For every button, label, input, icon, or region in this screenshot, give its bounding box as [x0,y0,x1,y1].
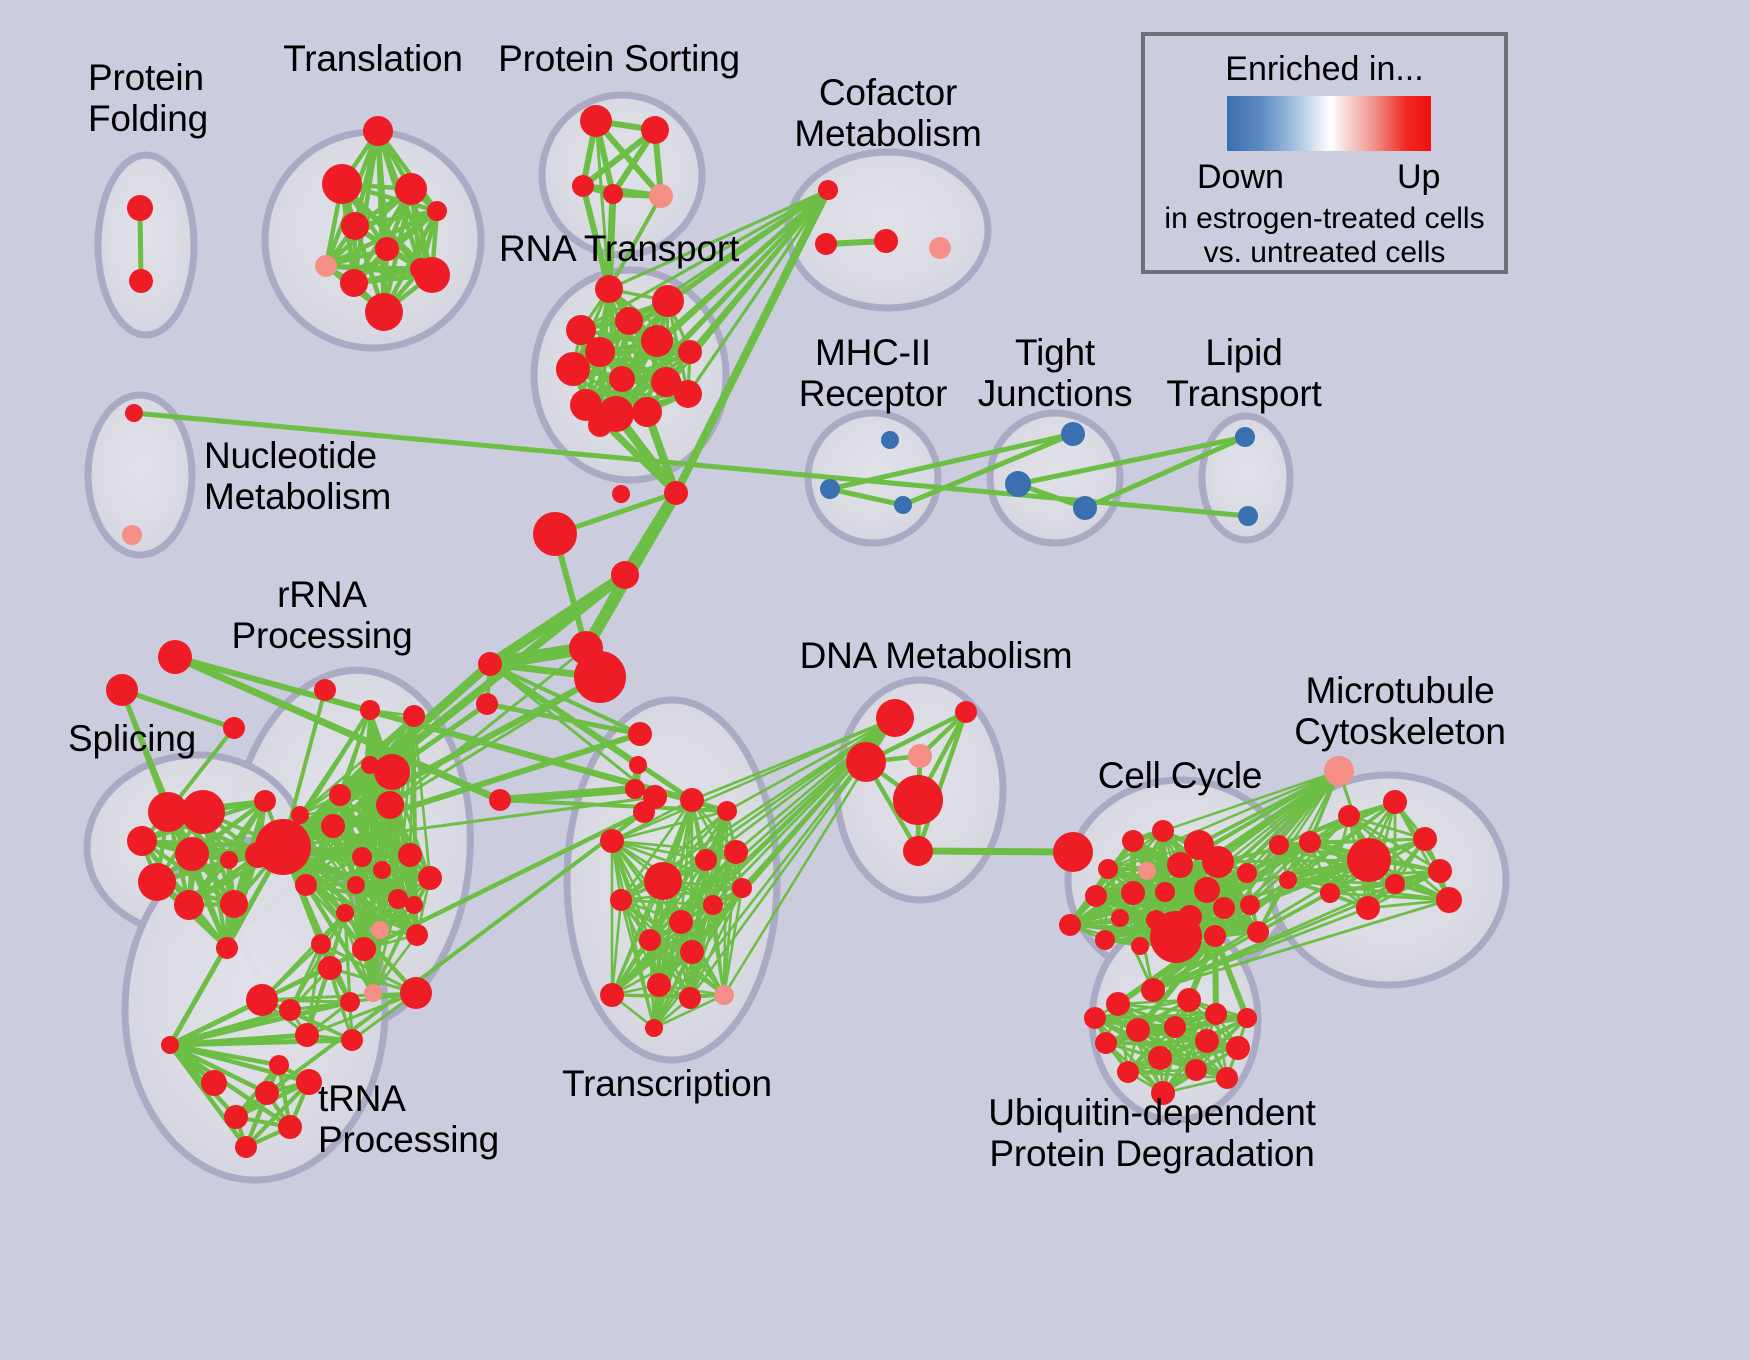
node-up[interactable] [340,992,360,1012]
cluster-label-protein-sorting: Protein Sorting [498,38,740,79]
node-up[interactable] [161,1036,179,1054]
node-up[interactable] [1122,830,1144,852]
node-up[interactable] [398,843,422,867]
node-up[interactable] [600,829,624,853]
cluster-label-microtubule-cytoskeleton: Microtubule Cytoskeleton [1294,670,1506,753]
node-up[interactable] [403,705,425,727]
cluster-label-lipid-transport: Lipid Transport [1166,332,1321,415]
node-up[interactable] [1205,1003,1227,1025]
node-up-weak[interactable] [364,984,382,1002]
node-up[interactable] [574,651,626,703]
node-up[interactable] [269,1055,289,1075]
node-up-weak[interactable] [649,184,673,208]
cluster-label-translation: Translation [283,38,462,79]
node-up[interactable] [664,481,688,505]
node-up[interactable] [1152,820,1174,842]
node-up[interactable] [1216,1067,1238,1089]
node-up[interactable] [1269,835,1289,855]
node-up[interactable] [395,173,427,205]
node-up[interactable] [1148,1046,1172,1070]
node-up[interactable] [1413,827,1437,851]
node-up[interactable] [609,366,635,392]
node-up-weak[interactable] [908,744,932,768]
node-up[interactable] [406,924,428,946]
node-up[interactable] [352,847,372,867]
node-up[interactable] [321,814,345,838]
node-up[interactable] [138,863,176,901]
legend-down-label: Down [1197,158,1284,197]
node-up[interactable] [1126,1018,1150,1042]
node-up[interactable] [533,512,577,556]
node-up[interactable] [556,352,590,386]
node-up[interactable] [1085,885,1107,907]
node-up[interactable] [611,561,639,589]
node-up[interactable] [652,285,684,317]
legend-subtitle-line-1: in estrogen-treated cells [1145,202,1504,236]
node-up[interactable] [874,229,898,253]
node-up[interactable] [400,977,432,1009]
node-up[interactable] [1131,937,1149,955]
node-up[interactable] [1121,881,1145,905]
node-up[interactable] [1299,831,1321,853]
node-up[interactable] [680,788,704,812]
node-up[interactable] [363,116,393,146]
node-up[interactable] [1117,1061,1139,1083]
node-up[interactable] [336,904,354,922]
node-up[interactable] [633,801,655,823]
node-up[interactable] [1194,877,1220,903]
node-up[interactable] [678,340,702,364]
node-up[interactable] [955,701,977,723]
node-up[interactable] [235,1136,257,1158]
cluster-label-trna-processing: tRNA Processing [318,1078,499,1161]
node-up[interactable] [1247,921,1269,943]
node-up[interactable] [1098,859,1118,879]
node-up[interactable] [311,934,331,954]
node-up[interactable] [427,201,447,221]
node-up[interactable] [181,790,225,834]
node-up[interactable] [645,1019,663,1037]
node-up[interactable] [314,679,336,701]
network-edge [918,851,1073,852]
node-up[interactable] [641,325,673,357]
node-up[interactable] [220,890,248,918]
cluster-label-cell-cycle: Cell Cycle [1098,755,1263,796]
node-up[interactable] [1155,882,1175,902]
node-up[interactable] [1141,978,1165,1002]
node-up[interactable] [365,293,403,331]
node-up-weak[interactable] [371,921,389,939]
cluster-label-tight-junctions: Tight Junctions [978,332,1133,415]
cluster-label-ubiquitin-protein-degradation: Ubiquitin-dependent Protein Degradation [988,1092,1315,1175]
node-up[interactable] [679,987,701,1009]
node-up[interactable] [603,184,623,204]
node-up[interactable] [647,973,671,997]
node-up[interactable] [224,1105,248,1129]
node-up[interactable] [127,826,157,856]
node-up[interactable] [641,116,669,144]
cluster-label-cofactor-metabolism: Cofactor Metabolism [794,72,981,155]
node-up[interactable] [418,866,442,890]
node-up[interactable] [129,269,153,293]
node-up[interactable] [1059,914,1081,936]
network-edge [1215,936,1216,1014]
node-up[interactable] [255,1081,279,1105]
node-up[interactable] [278,1115,302,1139]
node-up[interactable] [595,275,623,303]
node-up[interactable] [375,237,399,261]
node-up-weak[interactable] [714,985,734,1005]
node-up[interactable] [376,791,404,819]
node-up[interactable] [1226,1036,1250,1060]
node-up[interactable] [1204,925,1226,947]
cluster-label-mhc-ii-receptor: MHC-II Receptor [799,332,948,415]
node-up[interactable] [201,1070,227,1096]
node-up[interactable] [1385,874,1405,894]
node-up[interactable] [1095,1032,1117,1054]
node-up[interactable] [295,1023,319,1047]
cluster-label-dna-metabolism: DNA Metabolism [800,635,1073,676]
node-up[interactable] [1436,887,1462,913]
node-up[interactable] [703,895,723,915]
node-up[interactable] [680,940,704,964]
node-up[interactable] [347,876,365,894]
node-up[interactable] [1111,909,1129,927]
node-up[interactable] [615,307,643,335]
node-up[interactable] [724,840,748,864]
node-up[interactable] [580,105,612,137]
node-up[interactable] [669,910,693,934]
cluster-label-nucleotide-metabolism: Nucleotide Metabolism [204,435,391,518]
node-up[interactable] [106,674,138,706]
node-up[interactable] [1053,832,1093,872]
node-up[interactable] [414,257,450,293]
node-up[interactable] [476,693,498,715]
node-up[interactable] [1383,790,1407,814]
node-up[interactable] [329,784,351,806]
node-up[interactable] [246,984,278,1016]
node-down[interactable] [1073,496,1097,520]
node-up[interactable] [1237,1008,1257,1028]
node-up[interactable] [175,837,209,871]
node-up[interactable] [352,937,376,961]
node-up[interactable] [1167,852,1193,878]
node-up[interactable] [632,397,662,427]
node-down[interactable] [1061,422,1085,446]
node-up[interactable] [610,889,632,911]
node-up[interactable] [644,862,682,900]
node-up[interactable] [717,801,737,821]
node-up[interactable] [612,485,630,503]
legend-color-bar [1227,96,1431,151]
node-down[interactable] [1005,471,1031,497]
cluster-hull-protein-folding [98,155,194,335]
node-up[interactable] [405,896,423,914]
node-up-weak[interactable] [315,255,337,277]
node-up[interactable] [1347,838,1391,882]
node-up[interactable] [174,890,204,920]
node-up[interactable] [732,878,752,898]
node-up[interactable] [674,380,702,408]
node-up[interactable] [1428,859,1452,883]
node-up[interactable] [340,269,368,297]
node-up[interactable] [322,164,362,204]
node-up[interactable] [295,874,317,896]
cluster-label-protein-folding: Protein Folding [88,57,208,140]
node-up[interactable] [373,861,391,879]
node-up[interactable] [625,779,645,799]
node-up[interactable] [818,180,838,200]
node-up[interactable] [876,699,914,737]
node-up[interactable] [1185,1059,1207,1081]
node-up[interactable] [815,233,837,255]
node-up[interactable] [588,413,612,437]
node-up[interactable] [628,722,652,746]
node-up[interactable] [127,195,153,221]
node-up[interactable] [639,929,661,951]
node-up[interactable] [341,212,369,240]
node-up[interactable] [846,742,886,782]
node-down[interactable] [881,431,899,449]
enrichment-map-figure: Protein FoldingTranslationProtein Sortin… [0,0,1750,1360]
node-up[interactable] [1202,846,1234,878]
legend-panel: Enriched in... Down Up in estrogen-treat… [1141,32,1508,274]
node-up[interactable] [255,819,311,875]
node-up[interactable] [220,851,238,869]
cluster-label-rrna-processing: rRNA Processing [231,574,412,657]
node-down[interactable] [1235,427,1255,447]
cluster-label-splicing: Splicing [68,718,196,759]
node-up[interactable] [1237,863,1257,883]
node-up[interactable] [1084,1007,1106,1029]
node-up[interactable] [360,700,380,720]
node-up[interactable] [1338,805,1360,827]
node-up[interactable] [1213,897,1235,919]
cluster-label-rna-transport: RNA Transport [499,228,739,269]
node-up[interactable] [572,175,594,197]
node-up[interactable] [279,999,301,1021]
legend-title: Enriched in... [1145,50,1504,89]
node-up[interactable] [318,956,342,980]
node-up[interactable] [1195,1029,1219,1053]
node-down[interactable] [820,479,840,499]
node-up[interactable] [893,775,943,825]
node-up[interactable] [478,652,502,676]
network-edge [1218,860,1369,862]
node-up[interactable] [341,1029,363,1051]
node-up[interactable] [695,849,717,871]
node-up-weak[interactable] [1324,756,1354,786]
node-up-weak[interactable] [1138,862,1156,880]
node-up[interactable] [254,790,276,812]
node-up[interactable] [629,756,647,774]
node-down[interactable] [1238,506,1258,526]
node-up[interactable] [1164,1016,1186,1038]
node-up[interactable] [1177,988,1201,1012]
node-up[interactable] [216,937,238,959]
node-up[interactable] [1150,911,1202,963]
node-up[interactable] [1320,883,1340,903]
node-up[interactable] [374,754,410,790]
node-up[interactable] [1095,930,1115,950]
node-down[interactable] [894,496,912,514]
node-up[interactable] [1279,871,1297,889]
cluster-label-transcription: Transcription [562,1063,772,1104]
legend-up-label: Up [1397,158,1440,197]
node-up[interactable] [223,717,245,739]
node-up[interactable] [1240,895,1260,915]
node-up-weak[interactable] [929,237,951,259]
node-up[interactable] [585,337,615,367]
legend-subtitle-line-2: vs. untreated cells [1145,236,1504,270]
node-up[interactable] [1106,992,1130,1016]
node-up[interactable] [903,836,933,866]
node-up[interactable] [388,889,408,909]
node-up[interactable] [158,640,192,674]
node-up[interactable] [600,983,624,1007]
node-up-weak[interactable] [122,525,142,545]
node-up[interactable] [1356,896,1380,920]
node-up[interactable] [125,404,143,422]
node-up[interactable] [489,789,511,811]
